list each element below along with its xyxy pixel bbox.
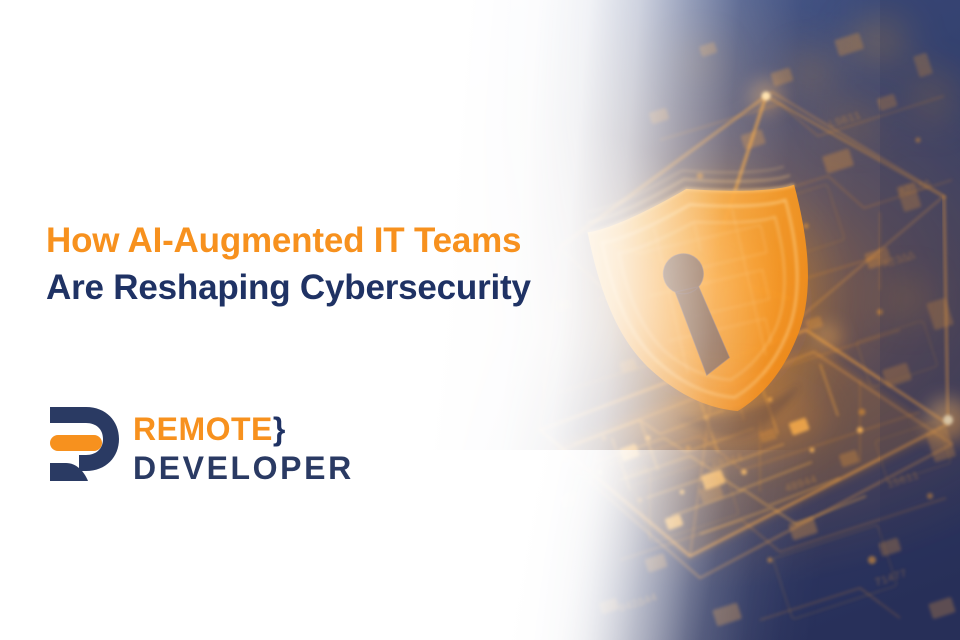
logo-brace-icon: } xyxy=(273,411,286,447)
hero-artwork: A23ΔΔ 48944 48944 15611 71477 042Δ44 485… xyxy=(0,0,960,640)
logo-word-remote-text: REMOTE xyxy=(133,411,273,447)
headline-line-1: How AI-Augmented IT Teams xyxy=(46,218,646,265)
artwork-svg: A23ΔΔ 48944 48944 15611 71477 042Δ44 485… xyxy=(0,0,960,640)
headline: How AI-Augmented IT Teams Are Reshaping … xyxy=(46,218,646,311)
logo-wordmark: REMOTE} DEVELOPER xyxy=(133,413,354,484)
headline-line-2: Are Reshaping Cybersecurity xyxy=(46,265,646,312)
brand-logo[interactable]: REMOTE} DEVELOPER xyxy=(46,403,354,493)
logo-word-remote: REMOTE} xyxy=(133,413,354,445)
logo-word-developer: DEVELOPER xyxy=(133,452,354,484)
remote-developer-r-mark-icon xyxy=(46,403,122,493)
blog-banner: A23ΔΔ 48944 48944 15611 71477 042Δ44 485… xyxy=(0,0,960,640)
